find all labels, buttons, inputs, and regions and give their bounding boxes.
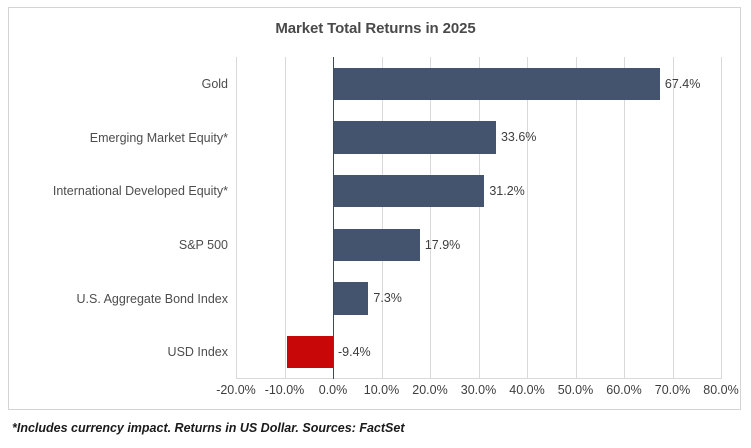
bar-value-label: 33.6% bbox=[501, 130, 536, 144]
bar-value-label: 67.4% bbox=[665, 77, 700, 91]
x-tick-label: 50.0% bbox=[558, 383, 593, 397]
x-tick-label: 0.0% bbox=[319, 383, 348, 397]
bar-value-label: 31.2% bbox=[489, 184, 524, 198]
chart-frame: Market Total Returns in 2025 GoldEmergin… bbox=[8, 7, 741, 410]
bar-4[interactable] bbox=[333, 229, 420, 261]
category-label-3: International Developed Equity* bbox=[53, 184, 228, 198]
bar-value-label: 7.3% bbox=[373, 291, 402, 305]
chart-figure: Market Total Returns in 2025 GoldEmergin… bbox=[0, 0, 751, 448]
bar-value-label: 17.9% bbox=[425, 238, 460, 252]
category-label-6: USD Index bbox=[168, 345, 228, 359]
category-label-4: S&P 500 bbox=[179, 238, 228, 252]
bar-value-label: -9.4% bbox=[338, 345, 371, 359]
bar-row: 17.9% bbox=[236, 218, 721, 272]
x-tick-label: 30.0% bbox=[461, 383, 496, 397]
category-label-2: Emerging Market Equity* bbox=[90, 131, 228, 145]
bar-row: 7.3% bbox=[236, 272, 721, 326]
bar-1[interactable] bbox=[333, 68, 660, 100]
zero-axis-line bbox=[333, 57, 334, 379]
bar-row: 33.6% bbox=[236, 111, 721, 165]
x-tick-label: 80.0% bbox=[703, 383, 738, 397]
bar-6[interactable] bbox=[287, 336, 333, 368]
chart-title: Market Total Returns in 2025 bbox=[9, 20, 742, 37]
bar-row: -9.4% bbox=[236, 325, 721, 379]
gridline bbox=[721, 57, 722, 379]
bar-row: 67.4% bbox=[236, 57, 721, 111]
bar-row: 31.2% bbox=[236, 164, 721, 218]
plot-area: 67.4%33.6%31.2%17.9%7.3%-9.4% bbox=[236, 57, 721, 379]
x-tick-label: 60.0% bbox=[606, 383, 641, 397]
x-tick-label: 70.0% bbox=[655, 383, 690, 397]
x-tick-label: -20.0% bbox=[216, 383, 256, 397]
category-label-5: U.S. Aggregate Bond Index bbox=[77, 292, 229, 306]
category-label-1: Gold bbox=[202, 77, 228, 91]
x-tick-label: 20.0% bbox=[412, 383, 447, 397]
x-tick-label: 40.0% bbox=[509, 383, 544, 397]
bar-3[interactable] bbox=[333, 175, 484, 207]
category-axis: GoldEmerging Market Equity*International… bbox=[9, 57, 228, 379]
chart-footnote: *Includes currency impact. Returns in US… bbox=[12, 421, 404, 435]
x-tick-label: 10.0% bbox=[364, 383, 399, 397]
bar-2[interactable] bbox=[333, 121, 496, 153]
bar-5[interactable] bbox=[333, 282, 368, 314]
x-tick-label: -10.0% bbox=[265, 383, 305, 397]
x-axis-tick-labels: -20.0%-10.0%0.0%10.0%20.0%30.0%40.0%50.0… bbox=[236, 379, 721, 403]
